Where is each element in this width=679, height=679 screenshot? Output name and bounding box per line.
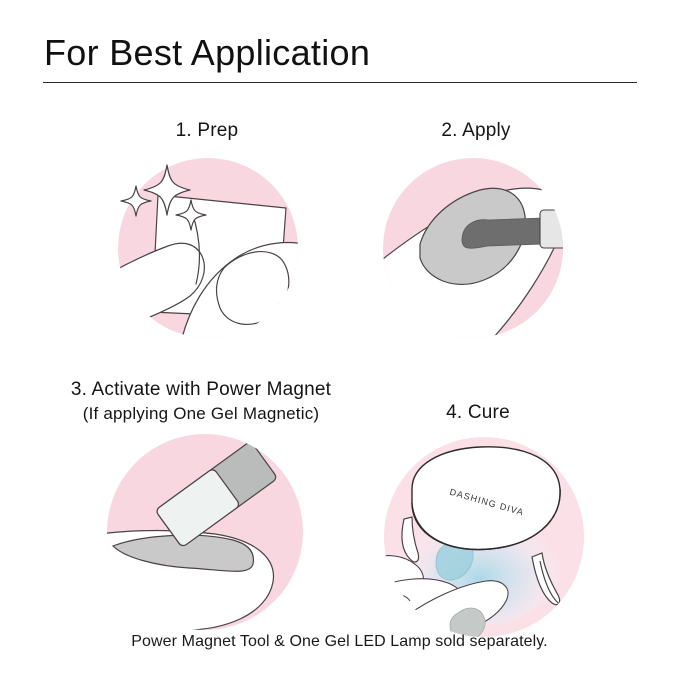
step-3-label-sub: (If applying One Gel Magnetic) bbox=[20, 403, 382, 426]
step-2-label: 2. Apply bbox=[386, 120, 566, 142]
step-3-label: 3. Activate with Power Magnet (If applyi… bbox=[20, 377, 382, 426]
step-3-label-main: 3. Activate with Power Magnet bbox=[71, 379, 331, 400]
applicator-tool bbox=[462, 218, 544, 248]
step-4-label: 4. Cure bbox=[388, 402, 568, 424]
title-divider bbox=[43, 82, 637, 83]
step-4-illustration: DASHING DIVA bbox=[382, 437, 587, 639]
step-1-label: 1. Prep bbox=[118, 120, 296, 142]
instruction-graphic: For Best Application 1. Prep bbox=[0, 0, 679, 679]
page-title: For Best Application bbox=[44, 32, 370, 74]
step-1-illustration bbox=[110, 150, 310, 350]
step-3-illustration bbox=[105, 434, 310, 634]
step-2-illustration bbox=[380, 152, 580, 352]
footnote: Power Magnet Tool & One Gel LED Lamp sol… bbox=[0, 633, 679, 651]
